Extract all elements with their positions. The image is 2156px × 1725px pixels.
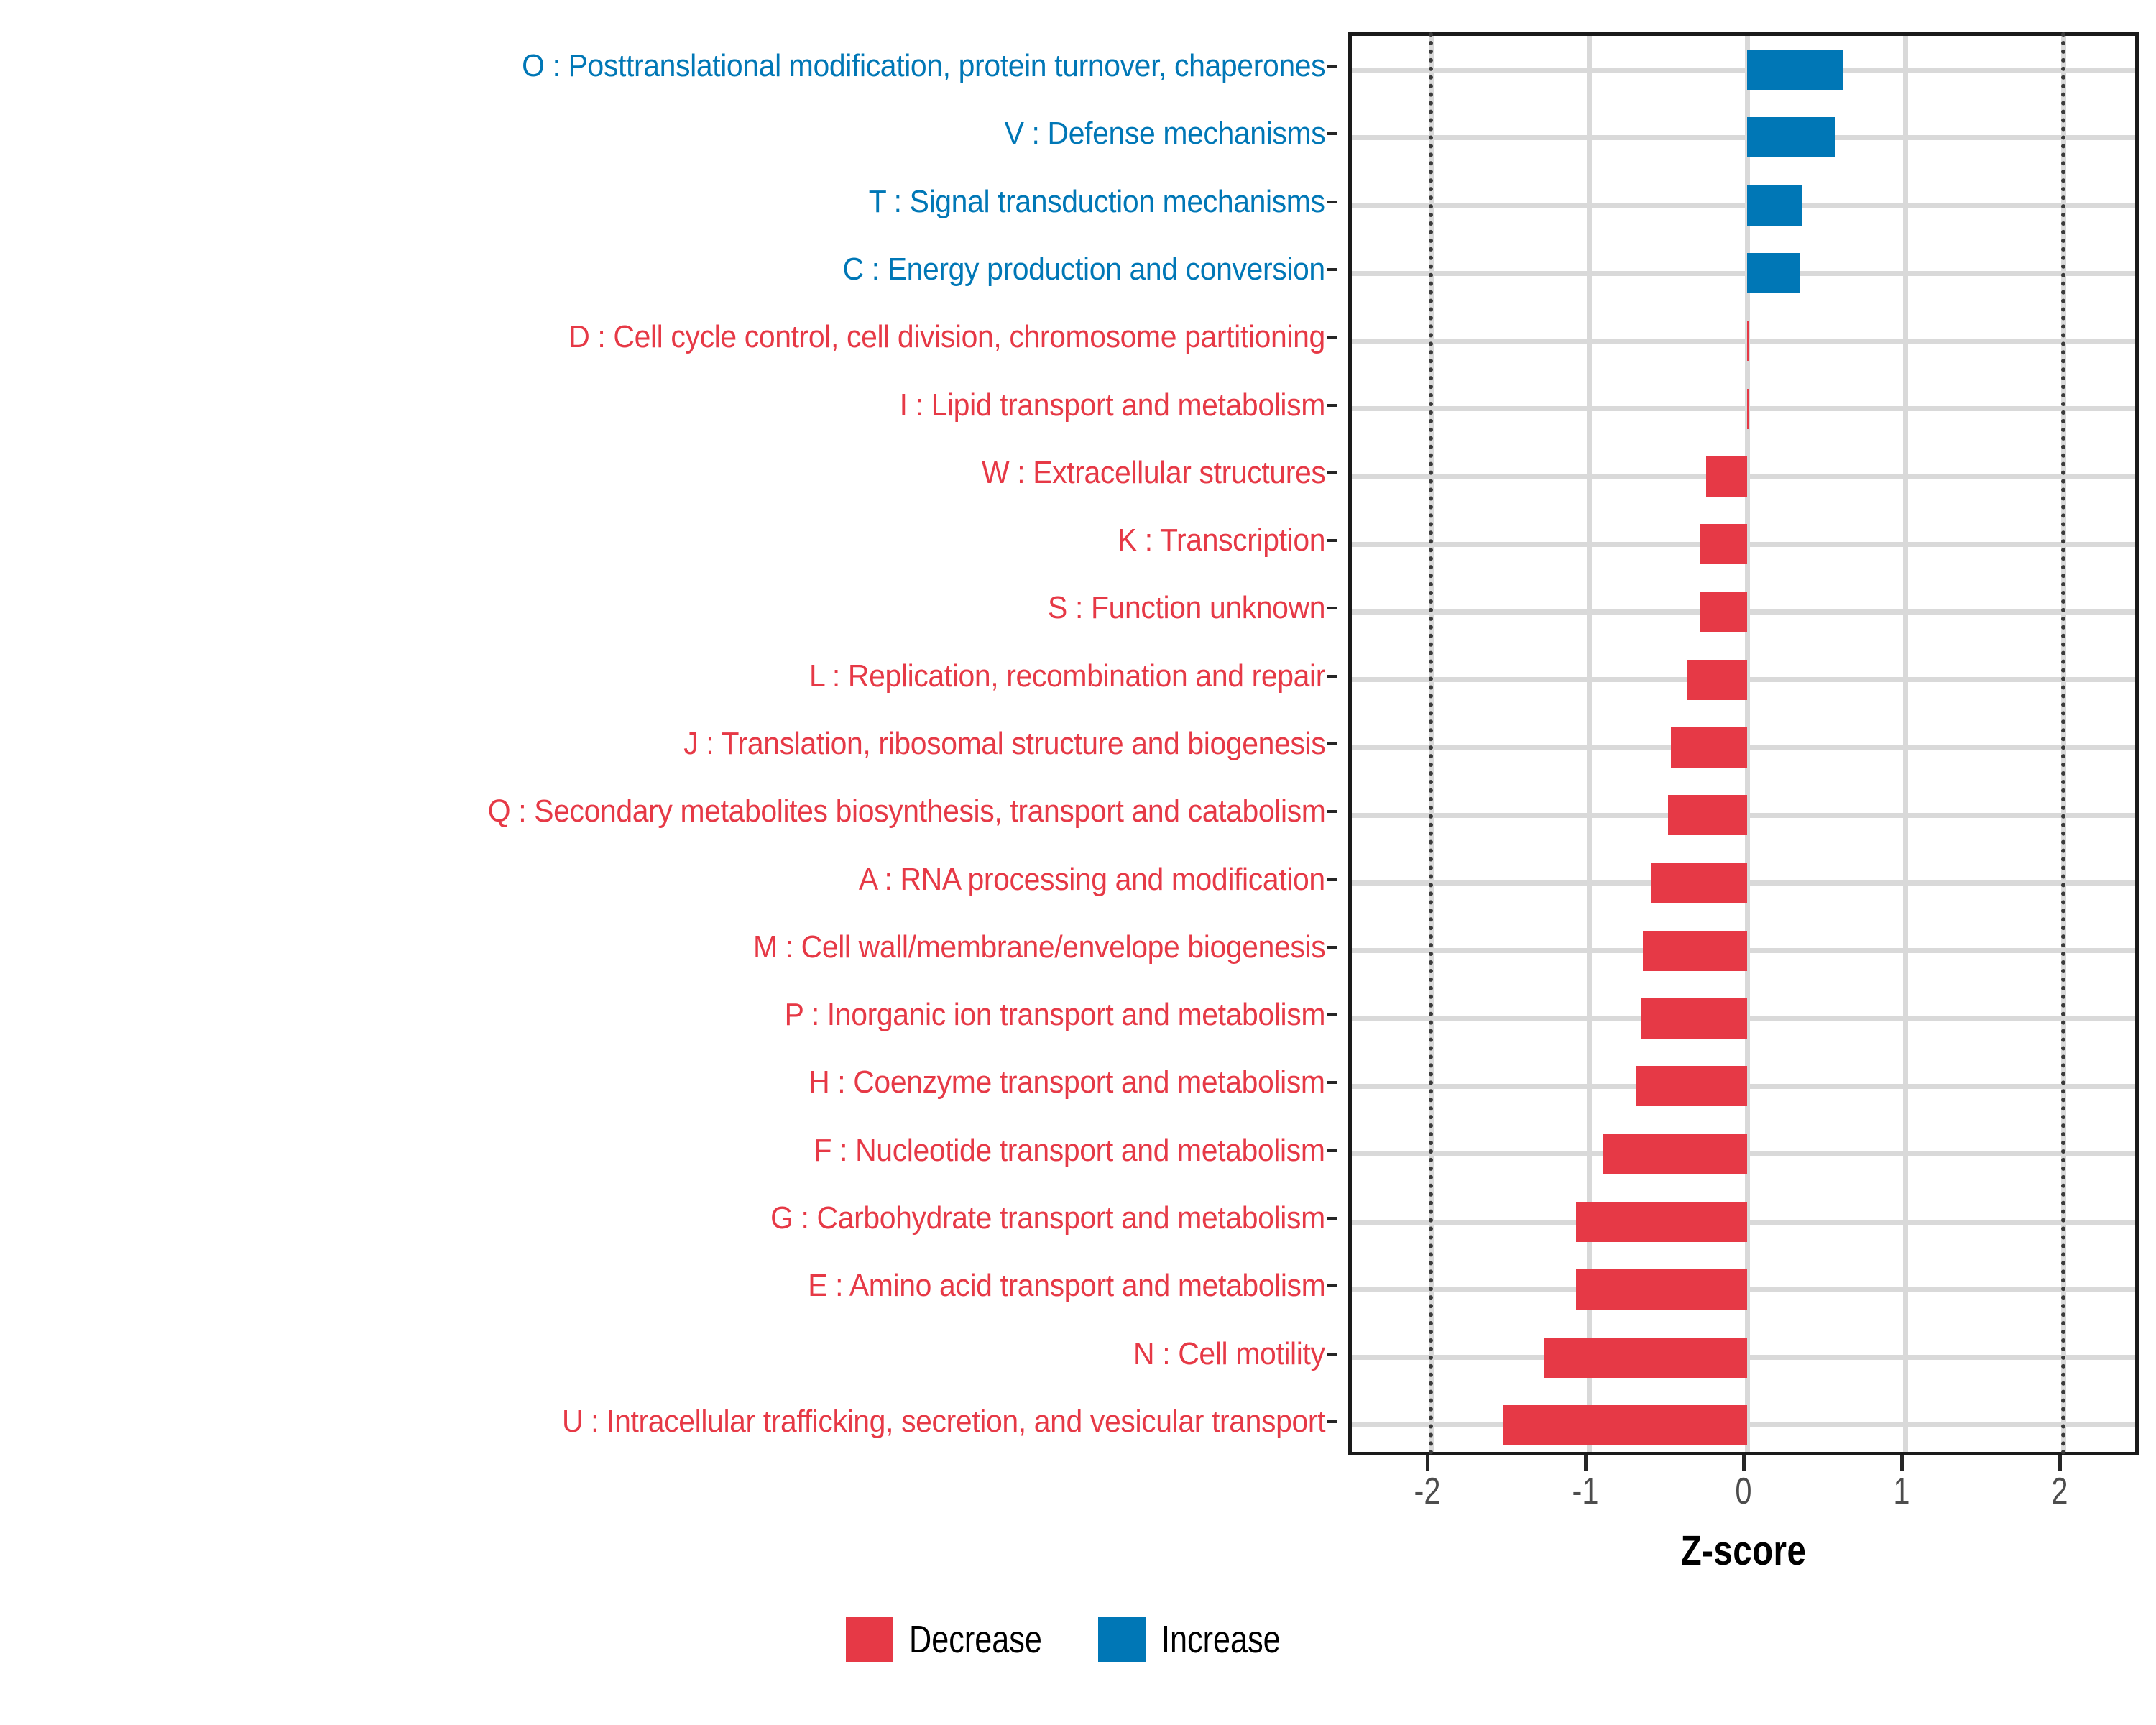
bar — [1671, 727, 1747, 768]
category-label-row: T : Signal transduction mechanisms — [0, 168, 1337, 236]
x-axis-tick — [1426, 1455, 1429, 1471]
x-axis-tick — [2058, 1455, 2062, 1471]
category-label: E : Amino acid transport and metabolism — [808, 1270, 1325, 1302]
legend-swatch-increase-icon — [1098, 1617, 1146, 1662]
y-axis-tick — [1327, 336, 1337, 339]
bar — [1636, 1066, 1747, 1106]
category-label-row: Q : Secondary metabolites biosynthesis, … — [0, 778, 1337, 845]
category-label: T : Signal transduction mechanisms — [869, 186, 1325, 218]
horizontal-gridline — [1352, 339, 2135, 344]
category-axis-labels: O : Posttranslational modification, prot… — [0, 32, 1337, 1455]
category-label-row: P : Inorganic ion transport and metaboli… — [0, 981, 1337, 1049]
category-label: F : Nucleotide transport and metabolism — [814, 1135, 1325, 1167]
y-axis-tick — [1327, 1284, 1337, 1287]
horizontal-gridline — [1352, 406, 2135, 411]
category-label: O : Posttranslational modification, prot… — [522, 50, 1325, 82]
bar — [1706, 456, 1747, 497]
category-label-row: H : Coenzyme transport and metabolism — [0, 1049, 1337, 1116]
category-label-row: I : Lipid transport and metabolism — [0, 371, 1337, 438]
category-label-row: F : Nucleotide transport and metabolism — [0, 1117, 1337, 1184]
horizontal-gridline — [1352, 68, 2135, 73]
y-axis-tick — [1327, 810, 1337, 813]
category-label: P : Inorganic ion transport and metaboli… — [785, 999, 1325, 1031]
bar — [1576, 1269, 1747, 1310]
legend: Decrease Increase — [0, 1617, 2156, 1662]
category-label: C : Energy production and conversion — [843, 254, 1325, 285]
x-axis-tick-label: 1 — [1893, 1473, 1909, 1510]
y-axis-tick — [1327, 946, 1337, 949]
y-axis-tick — [1327, 1420, 1337, 1423]
plot-panel — [1348, 32, 2139, 1455]
category-label: H : Coenzyme transport and metabolism — [808, 1067, 1325, 1098]
category-label: W : Extracellular structures — [982, 457, 1325, 489]
category-label-row: K : Transcription — [0, 507, 1337, 574]
x-axis-tick-label: -1 — [1572, 1473, 1599, 1510]
bar — [1643, 931, 1747, 971]
category-label-row: G : Carbohydrate transport and metabolis… — [0, 1184, 1337, 1252]
y-axis-tick — [1327, 132, 1337, 135]
legend-item-decrease: Decrease — [846, 1617, 1075, 1662]
x-axis-title: Z-score — [1419, 1527, 2068, 1575]
legend-item-increase: Increase — [1098, 1617, 1310, 1662]
legend-label-decrease: Decrease — [909, 1620, 1042, 1659]
category-label: N : Cell motility — [1133, 1338, 1325, 1370]
vertical-gridline — [1903, 36, 1908, 1452]
category-label: D : Cell cycle control, cell division, c… — [568, 321, 1325, 353]
y-axis-tick — [1327, 742, 1337, 745]
y-axis-tick — [1327, 471, 1337, 474]
horizontal-gridline — [1352, 203, 2135, 208]
y-axis-tick — [1327, 268, 1337, 271]
y-axis-tick — [1327, 1217, 1337, 1220]
bar — [1747, 321, 1749, 361]
category-label: A : RNA processing and modification — [859, 864, 1325, 896]
category-label-row: J : Translation, ribosomal structure and… — [0, 710, 1337, 778]
horizontal-gridline — [1352, 135, 2135, 140]
y-axis-tick — [1327, 675, 1337, 678]
x-axis-tick — [1742, 1455, 1746, 1471]
category-label-row: E : Amino acid transport and metabolism — [0, 1252, 1337, 1320]
bar — [1700, 524, 1747, 564]
cog-zscore-barchart: O : Posttranslational modification, prot… — [0, 0, 2156, 1725]
category-label-row: D : Cell cycle control, cell division, c… — [0, 303, 1337, 371]
y-axis-tick — [1327, 404, 1337, 407]
bar — [1747, 253, 1800, 293]
bar — [1503, 1405, 1747, 1445]
bar — [1641, 998, 1747, 1039]
category-label-row: W : Extracellular structures — [0, 439, 1337, 507]
bar — [1576, 1202, 1747, 1242]
x-axis-tick-label: 2 — [2051, 1473, 2068, 1510]
y-axis-tick — [1327, 65, 1337, 68]
y-axis-tick — [1327, 1081, 1337, 1084]
bar — [1747, 389, 1749, 429]
x-axis-tick-label: 0 — [1735, 1473, 1751, 1510]
category-label: S : Function unknown — [1048, 592, 1325, 624]
category-label: I : Lipid transport and metabolism — [900, 390, 1325, 421]
category-label-row: L : Replication, recombination and repai… — [0, 643, 1337, 710]
x-axis-tick — [1584, 1455, 1588, 1471]
x-axis-tick — [1900, 1455, 1904, 1471]
category-label-row: M : Cell wall/membrane/envelope biogenes… — [0, 914, 1337, 981]
bar — [1603, 1134, 1747, 1174]
legend-swatch-decrease-icon — [846, 1617, 893, 1662]
category-label: U : Intracellular trafficking, secretion… — [562, 1406, 1325, 1437]
category-label-row: A : RNA processing and modification — [0, 845, 1337, 913]
bar — [1747, 185, 1802, 226]
bar — [1687, 660, 1747, 700]
bar — [1544, 1338, 1747, 1378]
y-axis-tick — [1327, 607, 1337, 609]
category-label: Q : Secondary metabolites biosynthesis, … — [487, 796, 1325, 827]
category-label-row: S : Function unknown — [0, 574, 1337, 642]
horizontal-gridline — [1352, 271, 2135, 276]
y-axis-tick — [1327, 539, 1337, 542]
bar — [1747, 117, 1835, 157]
reference-line — [2061, 32, 2065, 1455]
category-label-row: V : Defense mechanisms — [0, 100, 1337, 167]
category-label-row: C : Energy production and conversion — [0, 236, 1337, 303]
category-label-row: O : Posttranslational modification, prot… — [0, 32, 1337, 100]
category-label: G : Carbohydrate transport and metabolis… — [770, 1202, 1325, 1234]
bar — [1747, 50, 1843, 90]
y-axis-tick — [1327, 201, 1337, 203]
plot-area — [1352, 36, 2135, 1452]
category-label: L : Replication, recombination and repai… — [809, 661, 1325, 692]
y-axis-tick — [1327, 1149, 1337, 1152]
category-label-row: N : Cell motility — [0, 1320, 1337, 1387]
legend-label-increase: Increase — [1161, 1620, 1281, 1659]
category-label: K : Transcription — [1118, 525, 1325, 556]
x-axis-tick-label: -2 — [1414, 1473, 1441, 1510]
category-label: V : Defense mechanisms — [1004, 118, 1325, 149]
bar — [1651, 863, 1747, 903]
reference-line — [1429, 32, 1433, 1455]
category-label-row: U : Intracellular trafficking, secretion… — [0, 1388, 1337, 1455]
bar — [1700, 592, 1747, 632]
category-label: J : Translation, ribosomal structure and… — [683, 728, 1325, 760]
y-axis-tick — [1327, 1353, 1337, 1356]
y-axis-tick — [1327, 1013, 1337, 1016]
y-axis-tick — [1327, 878, 1337, 881]
bar — [1668, 795, 1747, 835]
category-label: M : Cell wall/membrane/envelope biogenes… — [753, 931, 1325, 963]
